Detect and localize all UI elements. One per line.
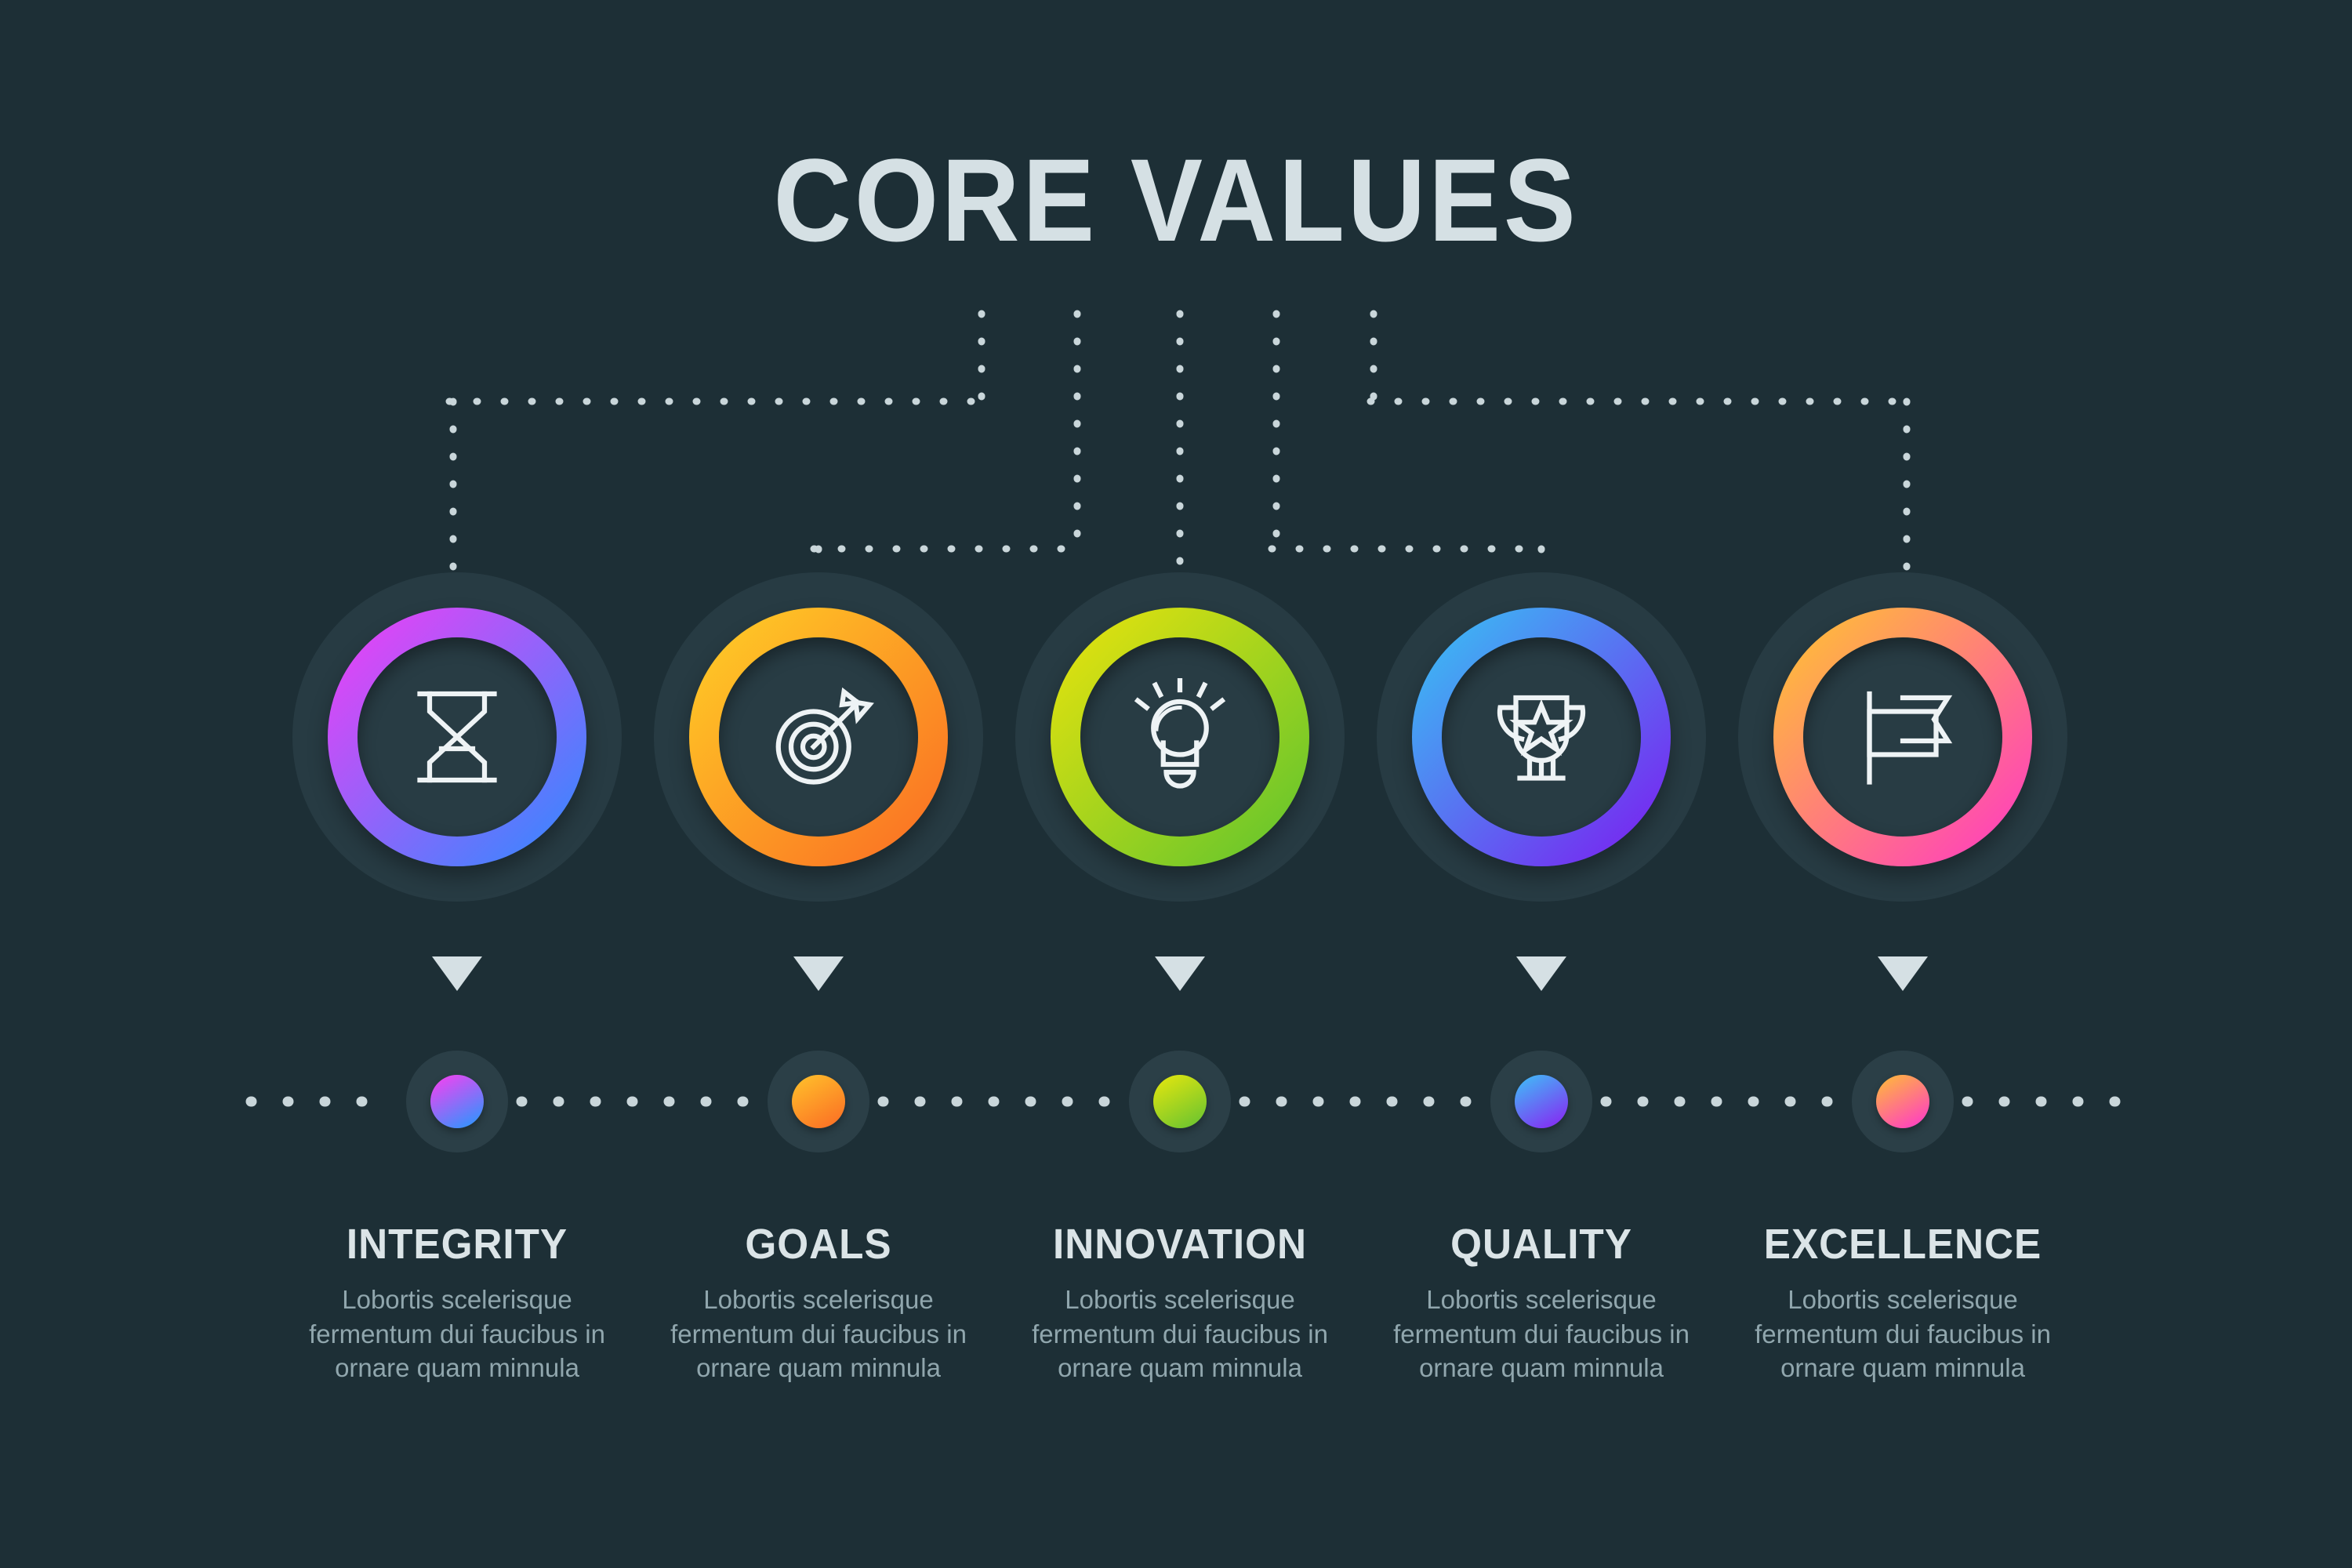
- gradient-ring-innovation: [1051, 608, 1309, 866]
- arrow-down-icon-goals: [793, 956, 844, 991]
- caption-title-integrity: INTEGRITY: [286, 1223, 629, 1265]
- caption-quality: QUALITYLobortis scelerisque fermentum du…: [1361, 1223, 1722, 1385]
- hourglass-icon: [328, 608, 586, 866]
- caption-title-quality: QUALITY: [1370, 1223, 1713, 1265]
- caption-excellence: EXCELLENCELobortis scelerisque fermentum…: [1722, 1223, 2083, 1385]
- caption-description-excellence: Lobortis scelerisque fermentum dui fauci…: [1722, 1283, 2083, 1385]
- infographic-canvas: CORE VALUES: [0, 0, 2352, 1568]
- value-node-goals[interactable]: [654, 572, 983, 902]
- caption-innovation: INNOVATIONLobortis scelerisque fermentum…: [1000, 1223, 1360, 1385]
- value-node-quality[interactable]: [1377, 572, 1706, 902]
- gradient-ring-excellence: [1773, 608, 2032, 866]
- timeline-dot-excellence[interactable]: [1876, 1075, 1929, 1128]
- value-node-integrity[interactable]: [292, 572, 622, 902]
- gradient-ring-integrity: [328, 608, 586, 866]
- value-node-excellence[interactable]: [1738, 572, 2067, 902]
- timeline-dot-innovation[interactable]: [1153, 1075, 1207, 1128]
- arrow-down-icon-integrity: [432, 956, 482, 991]
- caption-description-quality: Lobortis scelerisque fermentum dui fauci…: [1361, 1283, 1722, 1385]
- caption-integrity: INTEGRITYLobortis scelerisque fermentum …: [277, 1223, 637, 1385]
- caption-description-integrity: Lobortis scelerisque fermentum dui fauci…: [277, 1283, 637, 1385]
- gradient-ring-quality: [1412, 608, 1671, 866]
- caption-description-goals: Lobortis scelerisque fermentum dui fauci…: [638, 1283, 999, 1385]
- caption-title-goals: GOALS: [648, 1223, 990, 1265]
- timeline-dot-integrity[interactable]: [430, 1075, 484, 1128]
- timeline-dot-quality[interactable]: [1515, 1075, 1568, 1128]
- arrow-down-icon-excellence: [1878, 956, 1928, 991]
- page-title: CORE VALUES: [94, 141, 2258, 259]
- timeline-dot-goals[interactable]: [792, 1075, 845, 1128]
- arrow-down-icon-innovation: [1155, 956, 1205, 991]
- caption-goals: GOALSLobortis scelerisque fermentum dui …: [638, 1223, 999, 1385]
- target-arrow-icon: [689, 608, 948, 866]
- lightbulb-icon: [1051, 608, 1309, 866]
- gradient-ring-goals: [689, 608, 948, 866]
- caption-title-excellence: EXCELLENCE: [1732, 1223, 2074, 1265]
- caption-title-innovation: INNOVATION: [1009, 1223, 1352, 1265]
- caption-description-innovation: Lobortis scelerisque fermentum dui fauci…: [1000, 1283, 1360, 1385]
- arrow-down-icon-quality: [1516, 956, 1566, 991]
- flag-icon: [1773, 608, 2032, 866]
- value-node-innovation[interactable]: [1015, 572, 1345, 902]
- trophy-star-icon: [1412, 608, 1671, 866]
